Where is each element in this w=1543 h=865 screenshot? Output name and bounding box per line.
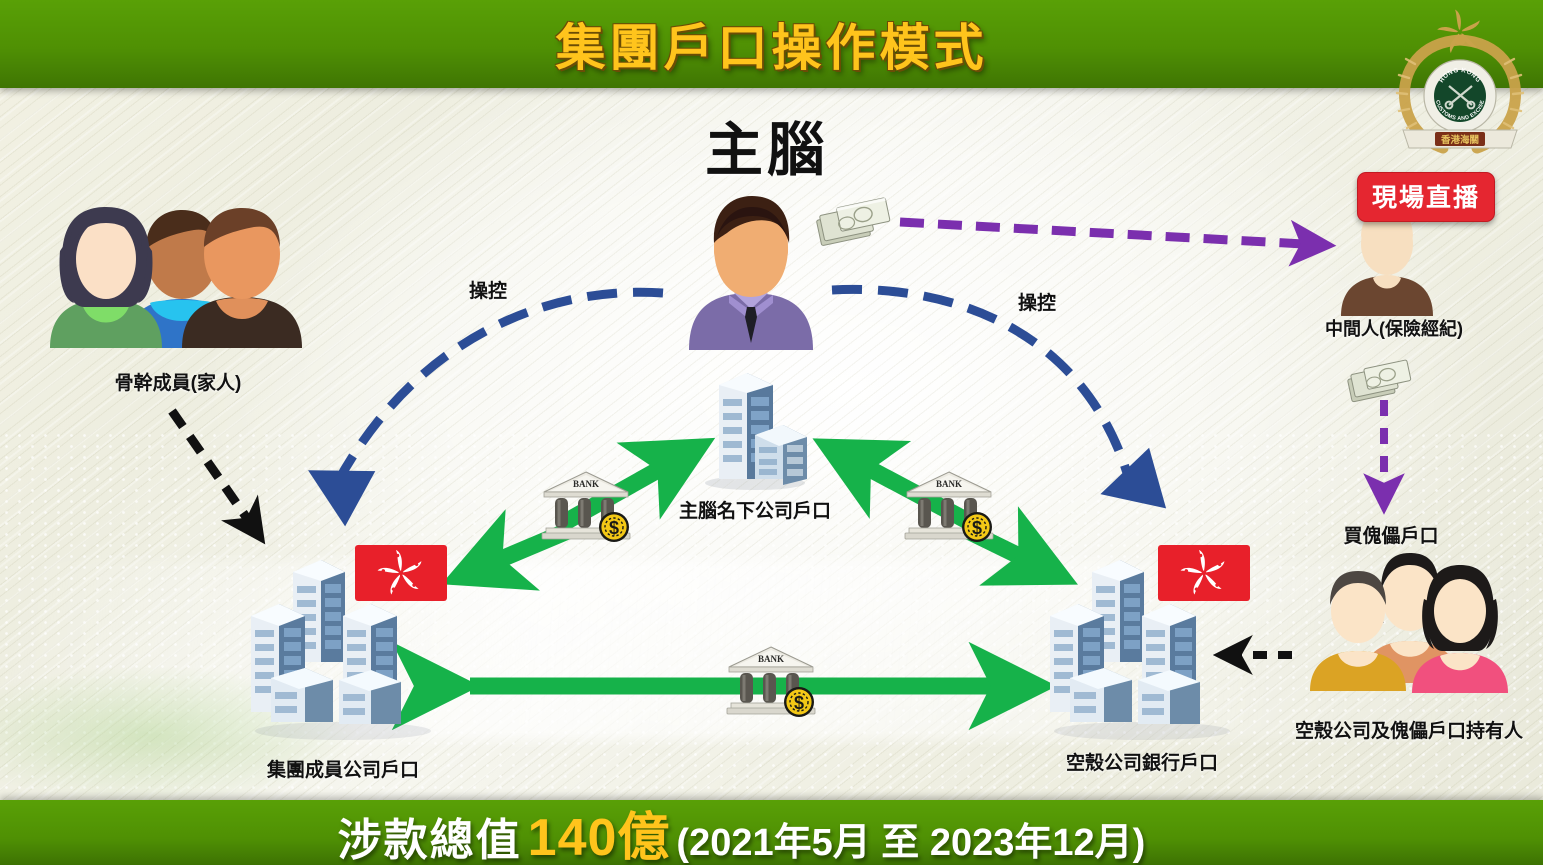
footer-prefix: 涉款總值 [338, 804, 522, 865]
mastermind-title: 主腦 [705, 103, 829, 187]
svg-text:$: $ [609, 518, 619, 538]
live-broadcast-badge: 現場直播 [1357, 172, 1495, 222]
footer-bar: 涉款總值 140億 (2021年5月 至 2023年12月) [0, 800, 1543, 865]
cash-stack-icon [814, 196, 900, 252]
label-middleman: 中間人(保險經紀) [1325, 315, 1463, 341]
bank-caption: BANK [758, 654, 784, 664]
label-shell-company-bank-account: 空殼公司銀行戶口 [1066, 748, 1218, 775]
shell-company-puppet-holders-icon [1300, 553, 1520, 693]
dollar-coin-icon: $ [784, 687, 814, 717]
bank-caption: BANK [573, 479, 599, 489]
svg-text:$: $ [972, 518, 982, 538]
hong-kong-customs-and-excise-emblem: HONG KONG CUSTOMS AND EXCISE 香港海關 [1385, 2, 1535, 162]
label-mastermind-company: 主腦名下公司戶口 [679, 496, 831, 523]
infographic-canvas: 主腦 [0, 0, 1543, 865]
page-title: 集團戶口操作模式 [556, 8, 988, 80]
emblem-banner-text: 香港海關 [1440, 134, 1479, 146]
label-group-member-company: 集團成員公司戶口 [267, 755, 419, 782]
bank-icon-right: BANK $ [903, 470, 995, 542]
middleman-avatar [1337, 216, 1437, 316]
footer-period: (2021年5月 至 2023年12月) [676, 811, 1145, 865]
dollar-coin-icon: $ [599, 512, 629, 542]
label-core-members: 骨幹成員(家人) [115, 368, 242, 395]
cash-stack-icon-middleman [1345, 358, 1423, 408]
bank-caption: BANK [936, 479, 962, 489]
hong-kong-flag-right [1158, 545, 1250, 601]
dollar-coin-icon: $ [962, 512, 992, 542]
header-bar: 集團戶口操作模式 [0, 0, 1543, 88]
footer-amount: 140億 [528, 795, 671, 865]
footer-summary: 涉款總值 140億 (2021年5月 至 2023年12月) [338, 795, 1146, 865]
label-control-right: 操控 [1018, 288, 1056, 315]
label-buy-puppet-accounts: 買傀儡戶口 [1343, 521, 1438, 548]
hong-kong-flag-left [355, 545, 447, 601]
bank-icon-left: BANK $ [540, 470, 632, 542]
mastermind-avatar [681, 185, 821, 350]
svg-text:$: $ [794, 693, 804, 713]
bank-icon-bottom: BANK $ [725, 645, 817, 717]
label-control-left: 操控 [469, 276, 507, 303]
label-puppet-account-holders: 空殼公司及傀儡戶口持有人 [1295, 716, 1523, 743]
mastermind-company-building-icon [695, 355, 815, 490]
core-members-family-icon [30, 203, 325, 348]
